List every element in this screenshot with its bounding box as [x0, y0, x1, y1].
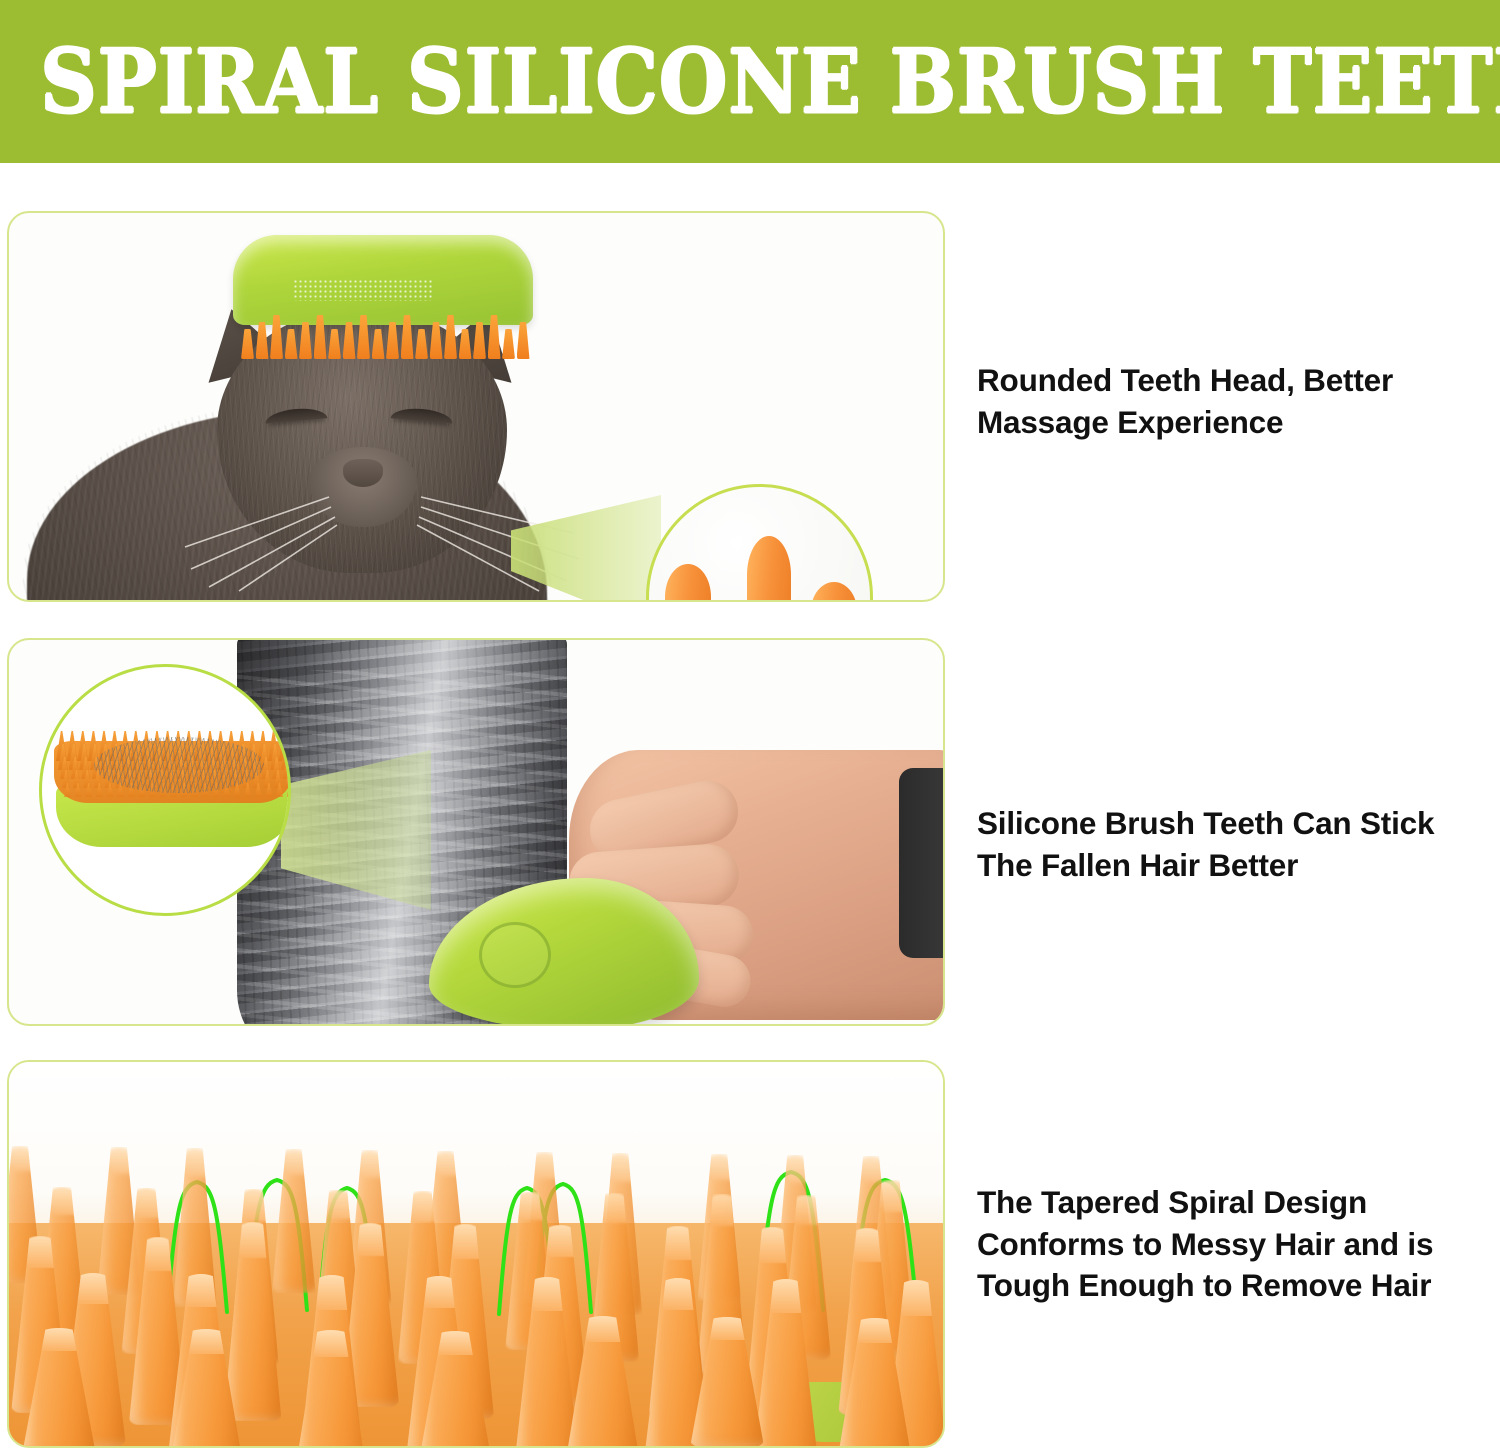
teeth-closeup-cone [665, 564, 711, 600]
feature-caption-2: Silicone Brush Teeth Can Stick The Falle… [977, 803, 1477, 886]
feature-caption-3: The Tapered Spiral Design Conforms to Me… [977, 1182, 1477, 1307]
brush-button-ring [479, 922, 551, 988]
magnifier-circle-hair-closeup [39, 664, 291, 916]
panel-1-image [9, 213, 943, 600]
feature-caption-1: Rounded Teeth Head, Better Massage Exper… [977, 360, 1477, 443]
feature-panel-rounded-teeth-head [7, 211, 945, 602]
silicone-tooth [357, 315, 370, 359]
silicone-brush-teeth-row [237, 313, 533, 359]
silicone-tooth [241, 329, 254, 359]
feature-panel-stick-fallen-hair [7, 638, 945, 1026]
feature-panel-tapered-spiral-design [7, 1060, 945, 1448]
silicone-tooth [270, 315, 283, 359]
silicone-tooth [314, 315, 327, 359]
silicone-tooth [256, 322, 269, 359]
silicone-tooth [488, 315, 501, 359]
panel-3-image [9, 1062, 943, 1446]
panel-2-image [9, 640, 943, 1024]
silicone-tooth [328, 329, 341, 359]
magnifier-circle-teeth-closeup [646, 484, 873, 600]
sleeve-cuff [899, 768, 943, 958]
silicone-brush-body [233, 235, 533, 325]
silicone-tooth [415, 329, 428, 359]
silicone-tooth [444, 315, 457, 359]
silicone-tooth [459, 329, 472, 359]
header-banner: SPIRAL SILICONE BRUSH TEETH [0, 0, 1500, 163]
silicone-tooth [401, 315, 414, 359]
brush-grip-texture [293, 279, 433, 301]
silicone-tooth [517, 322, 530, 359]
page-title: SPIRAL SILICONE BRUSH TEETH [0, 29, 1500, 133]
teeth-closeup-cone [747, 536, 791, 600]
silicone-tooth [372, 329, 385, 359]
silicone-tooth [343, 322, 356, 359]
silicone-tooth [502, 329, 515, 359]
collected-fallen-hair [94, 737, 264, 793]
teeth-closeup-cone [811, 582, 857, 600]
silicone-tooth [299, 322, 312, 359]
silicone-tooth [386, 322, 399, 359]
silicone-tooth [285, 329, 298, 359]
silicone-tooth [430, 322, 443, 359]
silicone-tooth [473, 322, 486, 359]
product-infographic: SPIRAL SILICONE BRUSH TEETH [0, 0, 1500, 1455]
